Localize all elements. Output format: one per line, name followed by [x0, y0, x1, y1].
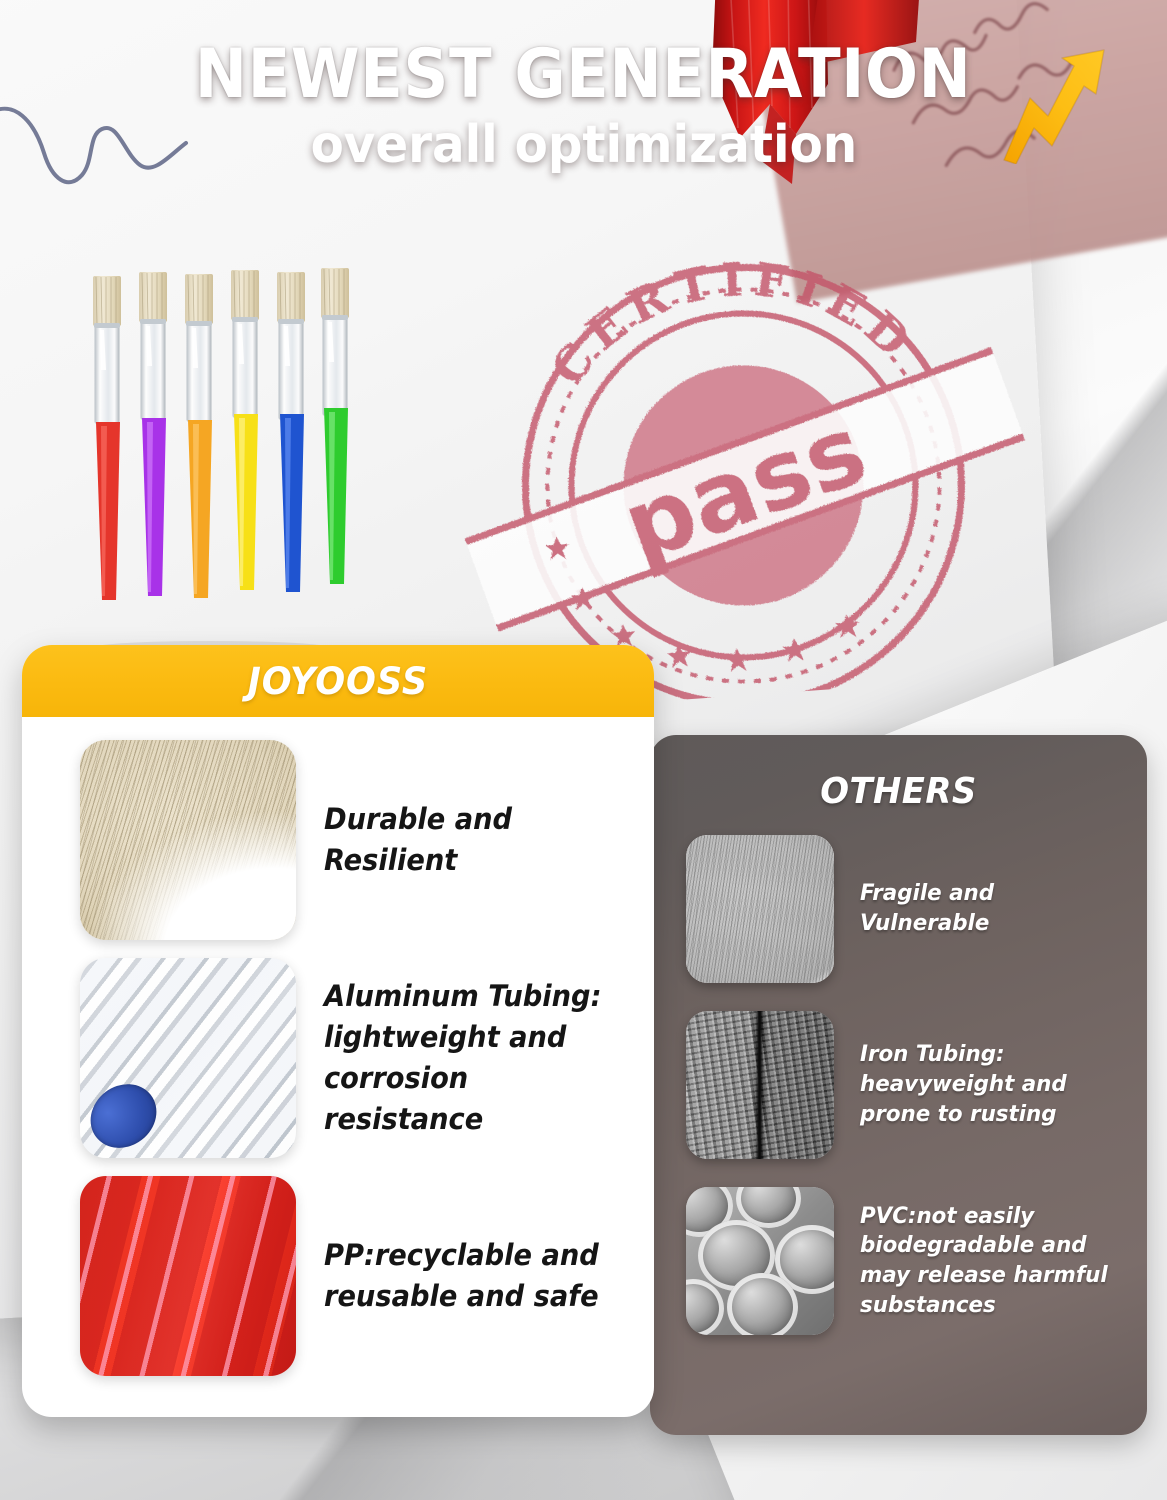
- header-block: NEWEST GENERATION overall optimization: [0, 40, 1167, 175]
- joyooss-header-banner: JOYOOSS: [22, 645, 654, 717]
- joyooss-feature-label: PP:recyclable and reusable and safe: [324, 1235, 615, 1317]
- trending-up-arrow-icon: [1000, 44, 1110, 164]
- aluminum-tubing-closeup-image: [80, 958, 296, 1158]
- joyooss-feature-list: Durable and Resilient Aluminum Tubing: l…: [22, 717, 654, 1385]
- others-feature-list: Fragile and Vulnerable Iron Tubing: heav…: [650, 821, 1147, 1349]
- certified-pass-stamp-icon: CERTIFIED pass: [413, 174, 1066, 716]
- grey-fragile-bristles-image: [686, 835, 834, 983]
- paintbrush-set-icon: [66, 266, 356, 656]
- joyooss-brand-title: JOYOOSS: [248, 660, 428, 703]
- others-feature-row: Iron Tubing: heavyweight and prone to ru…: [650, 997, 1147, 1173]
- joyooss-feature-row: Durable and Resilient: [22, 731, 654, 949]
- others-title: OTHERS: [665, 771, 1132, 812]
- bristles-closeup-image: [80, 740, 296, 940]
- comparison-card-joyooss: JOYOOSS Durable and Resilient Aluminum T…: [22, 645, 654, 1417]
- others-feature-row: PVC:not easily biodegradable and may rel…: [650, 1173, 1147, 1349]
- others-feature-label: Fragile and Vulnerable: [860, 879, 1108, 938]
- pvc-pipes-image: [686, 1187, 834, 1335]
- page-title: NEWEST GENERATION: [195, 40, 972, 109]
- infographic-root: NEWEST GENERATION overall optimization: [0, 0, 1167, 1500]
- rusted-iron-tubing-image: [686, 1011, 834, 1159]
- red-pp-handle-closeup-image: [80, 1176, 296, 1376]
- page-subtitle: overall optimization: [310, 115, 857, 175]
- others-feature-label: Iron Tubing: heavyweight and prone to ru…: [860, 1040, 1108, 1129]
- comparison-card-others: OTHERS Fragile and Vulnerable Iron Tubin…: [650, 735, 1147, 1435]
- joyooss-feature-label: Durable and Resilient: [324, 799, 615, 881]
- joyooss-feature-row: Aluminum Tubing: lightweight and corrosi…: [22, 949, 654, 1167]
- others-feature-row: Fragile and Vulnerable: [650, 821, 1147, 997]
- joyooss-feature-label: Aluminum Tubing: lightweight and corrosi…: [324, 976, 615, 1141]
- joyooss-feature-row: PP:recyclable and reusable and safe: [22, 1167, 654, 1385]
- others-feature-label: PVC:not easily biodegradable and may rel…: [860, 1202, 1108, 1321]
